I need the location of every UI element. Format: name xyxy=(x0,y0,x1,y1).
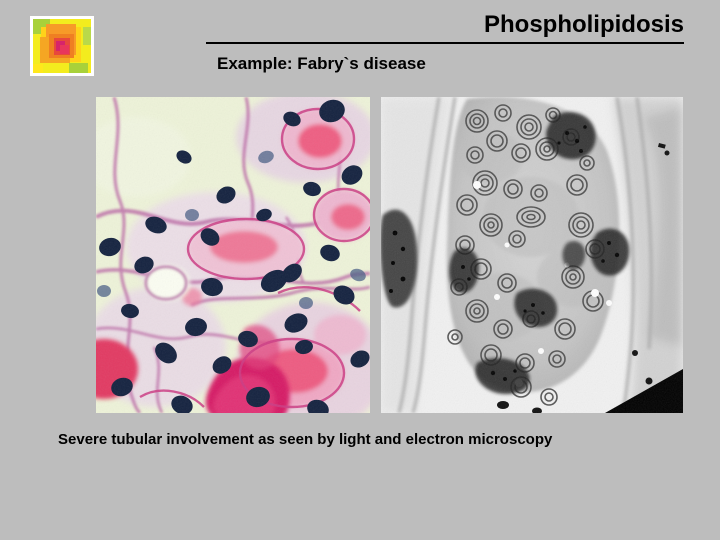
logo-block-red-core xyxy=(60,45,69,54)
slide-subtitle: Example: Fabry`s disease xyxy=(217,53,426,75)
title-divider xyxy=(206,42,684,44)
logo-block-yellow-bottom-left xyxy=(33,64,43,73)
logo-block-green-top-right xyxy=(83,27,91,45)
electron-microscopy-image xyxy=(381,97,683,413)
logo-block-green-bottom-right xyxy=(69,63,88,73)
nested-squares-logo xyxy=(30,16,94,76)
light-microscopy-image xyxy=(96,97,370,413)
figure-caption: Severe tubular involvement as seen by li… xyxy=(58,430,552,450)
slide-canvas: Phospholipidosis Example: Fabry`s diseas… xyxy=(0,0,720,540)
logo-inner xyxy=(33,19,91,73)
slide-title: Phospholipidosis xyxy=(206,11,684,39)
